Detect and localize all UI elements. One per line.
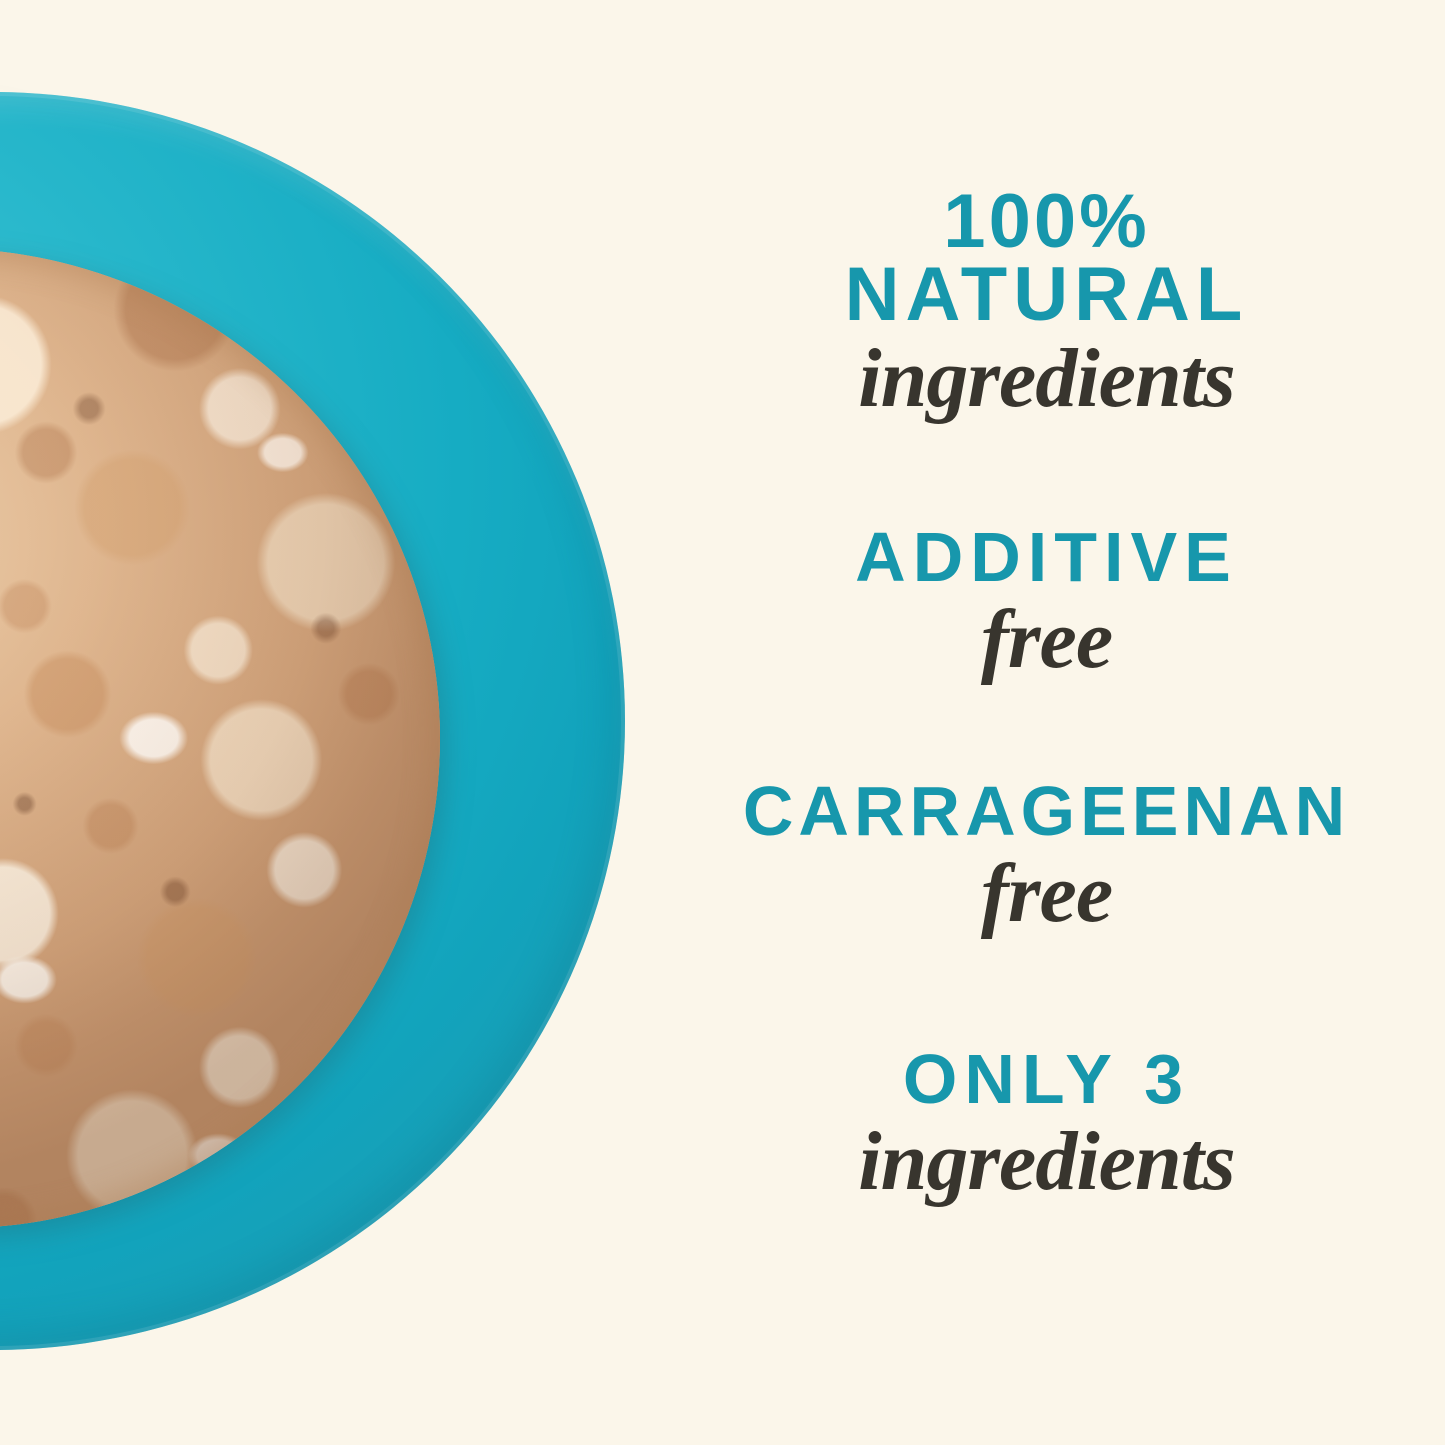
claim-2-script: free xyxy=(648,599,1445,681)
claim-1-line-2: NATURAL xyxy=(648,259,1445,332)
claims-column: 100% NATURAL ingredients ADDITIVE free C… xyxy=(648,0,1445,1445)
claim-3-line-1: CARRAGEENAN xyxy=(648,778,1445,845)
claim-only-3-ingredients: ONLY 3 ingredients xyxy=(648,1046,1445,1204)
claim-2-line-1: ADDITIVE xyxy=(648,524,1445,591)
claim-4-line-1: ONLY 3 xyxy=(648,1046,1445,1113)
claim-1-script: ingredients xyxy=(648,338,1445,420)
claim-carrageenan-free: CARRAGEENAN free xyxy=(648,778,1445,936)
claim-1-line-1: 100% xyxy=(648,186,1445,259)
claim-natural-ingredients: 100% NATURAL ingredients xyxy=(648,186,1445,420)
claim-3-script: free xyxy=(648,853,1445,935)
product-claims-graphic: 100% NATURAL ingredients ADDITIVE free C… xyxy=(0,0,1445,1445)
pet-food-mound xyxy=(0,248,440,1228)
claim-additive-free: ADDITIVE free xyxy=(648,524,1445,682)
claim-4-script: ingredients xyxy=(648,1121,1445,1203)
